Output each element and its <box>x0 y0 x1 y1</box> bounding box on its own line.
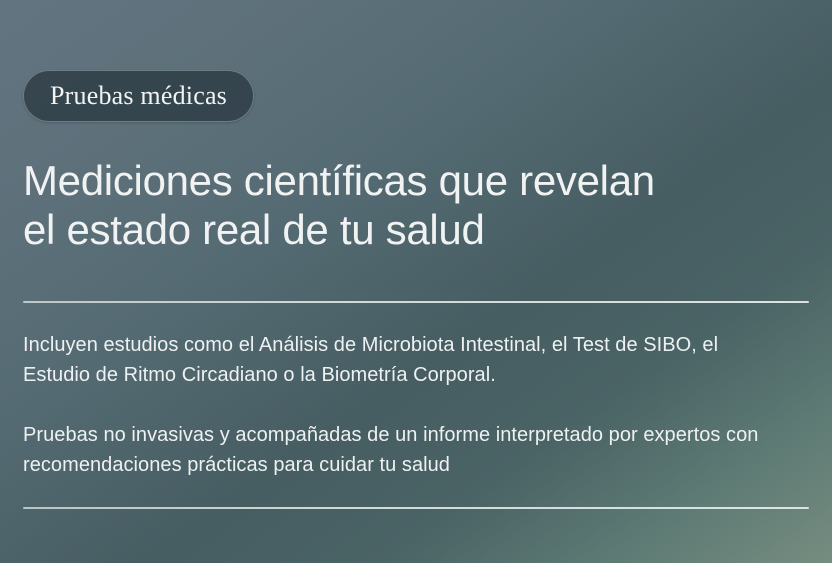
page-title-line-1: Mediciones científicas que revelan <box>23 156 723 205</box>
page-title: Mediciones científicas que revelan el es… <box>23 122 723 254</box>
category-badge-label: Pruebas médicas <box>50 83 227 109</box>
page-title-line-2: el estado real de tu salud <box>23 205 723 254</box>
description-paragraph-2: Pruebas no invasivas y acompañadas de un… <box>23 420 783 480</box>
pruebas-medicas-hero-section: Pruebas médicas Mediciones científicas q… <box>0 0 832 563</box>
divider-bottom <box>23 507 809 509</box>
body-copy: Incluyen estudios como el Análisis de Mi… <box>23 303 809 480</box>
hero-content-container: Pruebas médicas Mediciones científicas q… <box>0 0 832 563</box>
badge-row: Pruebas médicas <box>23 0 809 122</box>
description-paragraph-1: Incluyen estudios como el Análisis de Mi… <box>23 330 783 390</box>
category-badge: Pruebas médicas <box>23 70 254 122</box>
